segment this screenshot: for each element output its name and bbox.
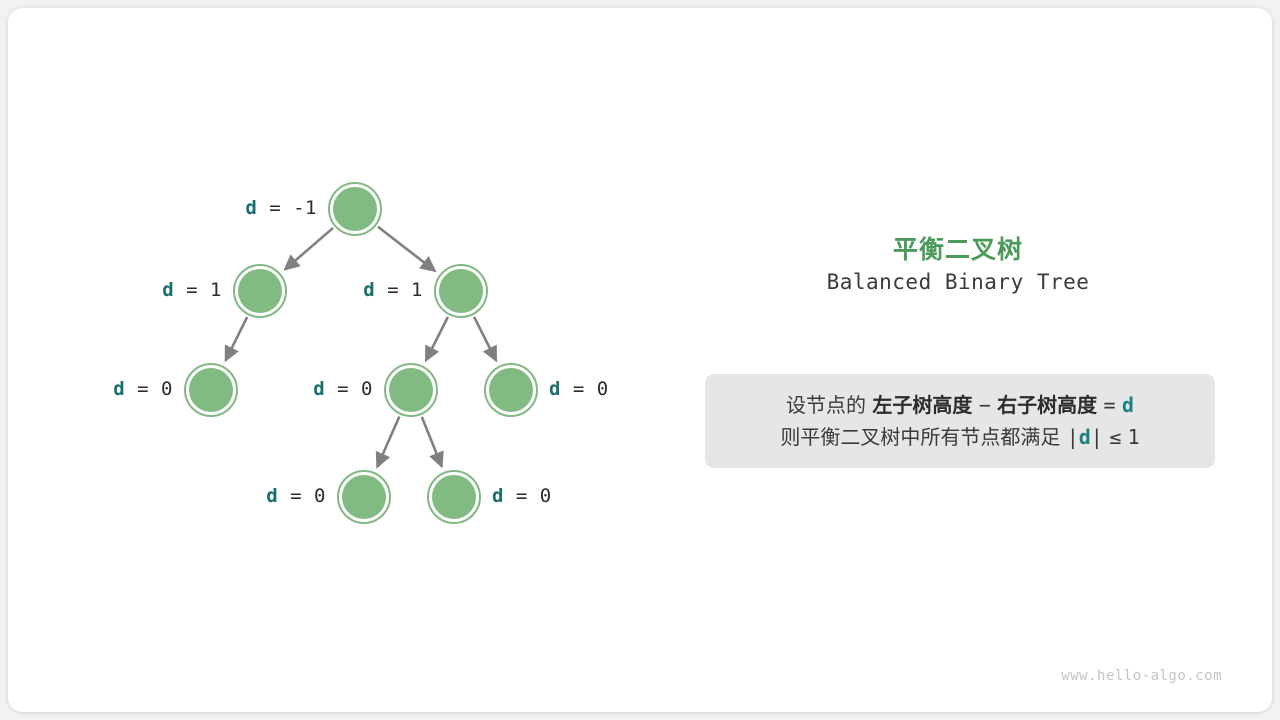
definition-left-subtree: 左子树高度 <box>872 393 972 417</box>
panel-subtitle: Balanced Binary Tree <box>703 270 1213 294</box>
node-balance-label: d = 0 <box>266 485 326 507</box>
tree-node[interactable] <box>337 470 391 524</box>
balance-var: d <box>313 378 325 400</box>
edge-group <box>226 227 496 467</box>
definition-right-subtree: 右子树高度 <box>997 393 1097 417</box>
tree-node[interactable] <box>384 363 438 417</box>
node-balance-label: d = 0 <box>549 378 609 400</box>
definition-d-symbol: d <box>1122 393 1134 417</box>
less-equal-sign: ≤ <box>1109 425 1121 449</box>
balance-var: d <box>245 197 257 219</box>
balance-value: = 0 <box>278 485 326 507</box>
balance-var: d <box>549 378 561 400</box>
tree-node[interactable] <box>328 182 382 236</box>
tree-edge <box>378 227 435 271</box>
abs-close-bar: | <box>1091 425 1103 449</box>
balance-value: = 0 <box>504 485 552 507</box>
definition-line-2: 则平衡二叉树中所有节点都满足 |d| ≤ 1 <box>705 421 1215 453</box>
definition-minus: − <box>979 393 991 417</box>
balance-var: d <box>113 378 125 400</box>
balance-var: d <box>363 279 375 301</box>
tree-edge <box>426 317 448 361</box>
definition-equals: = <box>1104 393 1116 417</box>
node-balance-label: d = 0 <box>313 378 373 400</box>
node-balance-label: d = -1 <box>245 197 317 219</box>
condition-d-symbol: d <box>1079 425 1091 449</box>
binary-tree-diagram: d = -1d = 1d = 1d = 0d = 0d = 0d = 0d = … <box>8 8 708 712</box>
tree-node[interactable] <box>427 470 481 524</box>
node-balance-label: d = 0 <box>113 378 173 400</box>
balance-value: = 0 <box>125 378 173 400</box>
panel-title: 平衡二叉树 <box>703 230 1213 266</box>
node-balance-label: d = 1 <box>162 279 222 301</box>
content-card: d = -1d = 1d = 1d = 0d = 0d = 0d = 0d = … <box>8 8 1272 712</box>
tree-node[interactable] <box>184 363 238 417</box>
balance-value: = -1 <box>257 197 317 219</box>
definition-prefix: 设节点的 <box>786 393 866 417</box>
tree-edge <box>226 317 247 360</box>
balance-value: = 1 <box>174 279 222 301</box>
balance-var: d <box>492 485 504 507</box>
tree-edges-layer <box>8 8 708 712</box>
balance-var: d <box>162 279 174 301</box>
condition-prefix: 则平衡二叉树中所有节点都满足 <box>780 425 1060 449</box>
tree-node[interactable] <box>233 264 287 318</box>
balance-value: = 1 <box>375 279 423 301</box>
abs-open-bar: | <box>1067 425 1079 449</box>
node-balance-label: d = 1 <box>363 279 423 301</box>
node-balance-label: d = 0 <box>492 485 552 507</box>
definition-box: 设节点的 左子树高度 − 右子树高度 = d 则平衡二叉树中所有节点都满足 |d… <box>705 374 1215 468</box>
condition-value: 1 <box>1128 425 1140 449</box>
balance-value: = 0 <box>325 378 373 400</box>
tree-edge <box>474 317 496 361</box>
balance-var: d <box>266 485 278 507</box>
tree-edge <box>285 228 333 269</box>
info-panel: 平衡二叉树 Balanced Binary Tree 设节点的 左子树高度 − … <box>703 8 1272 712</box>
balance-value: = 0 <box>561 378 609 400</box>
page-background: d = -1d = 1d = 1d = 0d = 0d = 0d = 0d = … <box>0 0 1280 720</box>
tree-edge <box>377 417 399 467</box>
tree-node[interactable] <box>484 363 538 417</box>
tree-edge <box>422 417 442 466</box>
watermark-text: www.hello-algo.com <box>1061 668 1222 684</box>
definition-line-1: 设节点的 左子树高度 − 右子树高度 = d <box>705 389 1215 421</box>
tree-node[interactable] <box>434 264 488 318</box>
